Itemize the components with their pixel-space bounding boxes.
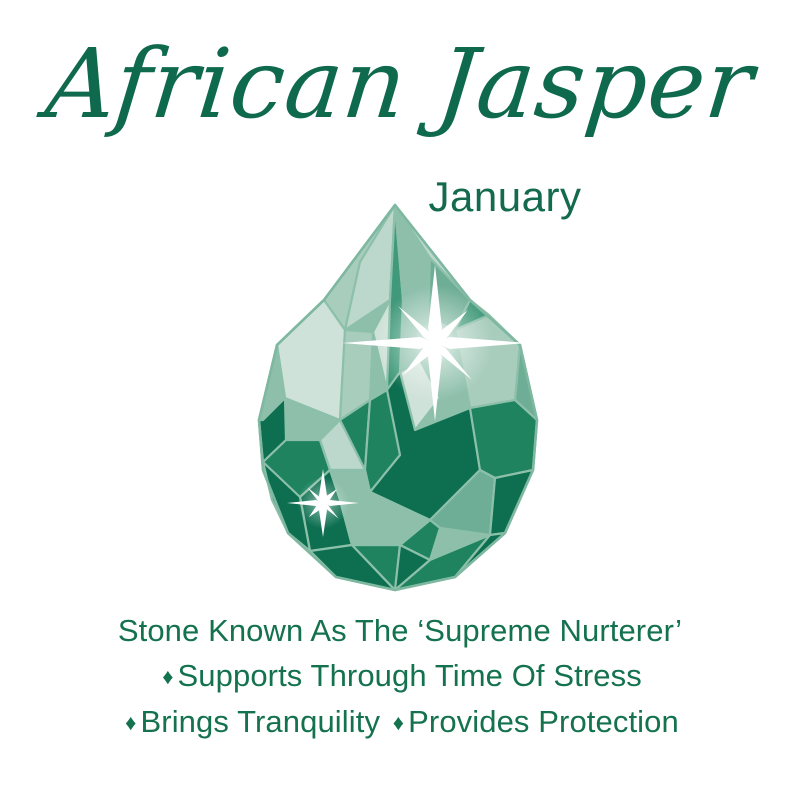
benefit-line: ♦Brings Tranquility ♦Provides Protection xyxy=(0,699,800,745)
facet-sparkle-panel-left xyxy=(300,470,352,551)
facet-apex-center xyxy=(387,205,403,390)
facet-left-edge-upper xyxy=(259,345,285,420)
facet-upper-right-inner xyxy=(420,318,470,408)
birth-month-label: January xyxy=(0,176,800,218)
page-title: African Jasper xyxy=(0,34,800,135)
bullet-diamond-icon: ♦ xyxy=(121,710,140,735)
facet-lower-right-panel xyxy=(470,400,537,478)
sparkle-large-icon xyxy=(342,265,528,421)
facet-left-mid-light xyxy=(340,330,373,420)
facet-bottom-left xyxy=(310,545,395,590)
facet-upper-right-inner-b xyxy=(400,360,440,430)
facet-lower-left-edge xyxy=(263,462,310,551)
bullet-diamond-icon: ♦ xyxy=(158,664,177,689)
benefit-text: Provides Protection xyxy=(408,704,679,739)
gem-outline xyxy=(259,205,537,590)
gem-silhouette xyxy=(259,205,537,590)
benefits-list: Stone Known As The ‘Supreme Nurterer’♦Su… xyxy=(0,608,800,745)
benefit-text: Stone Known As The ‘Supreme Nurterer’ xyxy=(118,613,682,648)
facet-center-highlight xyxy=(365,390,400,492)
facet-lower-right-edge xyxy=(490,470,533,535)
facet-lower-right-inner xyxy=(400,520,440,560)
facet-right-edge-upper xyxy=(515,345,537,420)
facet-left-mid-light-b xyxy=(320,400,370,470)
facet-crown-right-b xyxy=(428,258,470,330)
facet-bottom-right-edge xyxy=(455,533,505,577)
facet-lower-left-dark xyxy=(263,440,330,500)
facet-upper-left-kite xyxy=(277,300,345,420)
facet-left-edge-upper-b xyxy=(259,398,286,462)
facet-apex-left xyxy=(373,205,395,390)
facet-lower-left-mid xyxy=(320,440,370,500)
facet-bottom-right xyxy=(395,535,490,590)
facet-crown-right-dark xyxy=(455,300,489,330)
facet-lower-right-mid xyxy=(430,470,495,535)
benefit-text: Supports Through Time Of Stress xyxy=(178,658,642,693)
bullet-diamond-icon: ♦ xyxy=(389,710,408,735)
facet-upper-right-panel xyxy=(455,315,520,408)
benefit-line: Stone Known As The ‘Supreme Nurterer’ xyxy=(0,608,800,653)
facet-bottom-center xyxy=(352,545,400,590)
gem-facets xyxy=(259,205,537,590)
gemstone-info-card: African Jasper January xyxy=(0,0,800,800)
facet-table-center-dark xyxy=(365,372,480,520)
facet-table-left-mid xyxy=(340,400,370,470)
facet-mid-bottom-bridge xyxy=(340,492,430,545)
facet-bottom-left-edge xyxy=(288,533,336,577)
benefit-text: Brings Tranquility xyxy=(141,704,381,739)
benefit-line: ♦Supports Through Time Of Stress xyxy=(0,653,800,699)
title-block: African Jasper January xyxy=(0,0,800,230)
sparkle-small-icon xyxy=(287,469,359,537)
facet-bottom-center-b xyxy=(395,545,430,590)
